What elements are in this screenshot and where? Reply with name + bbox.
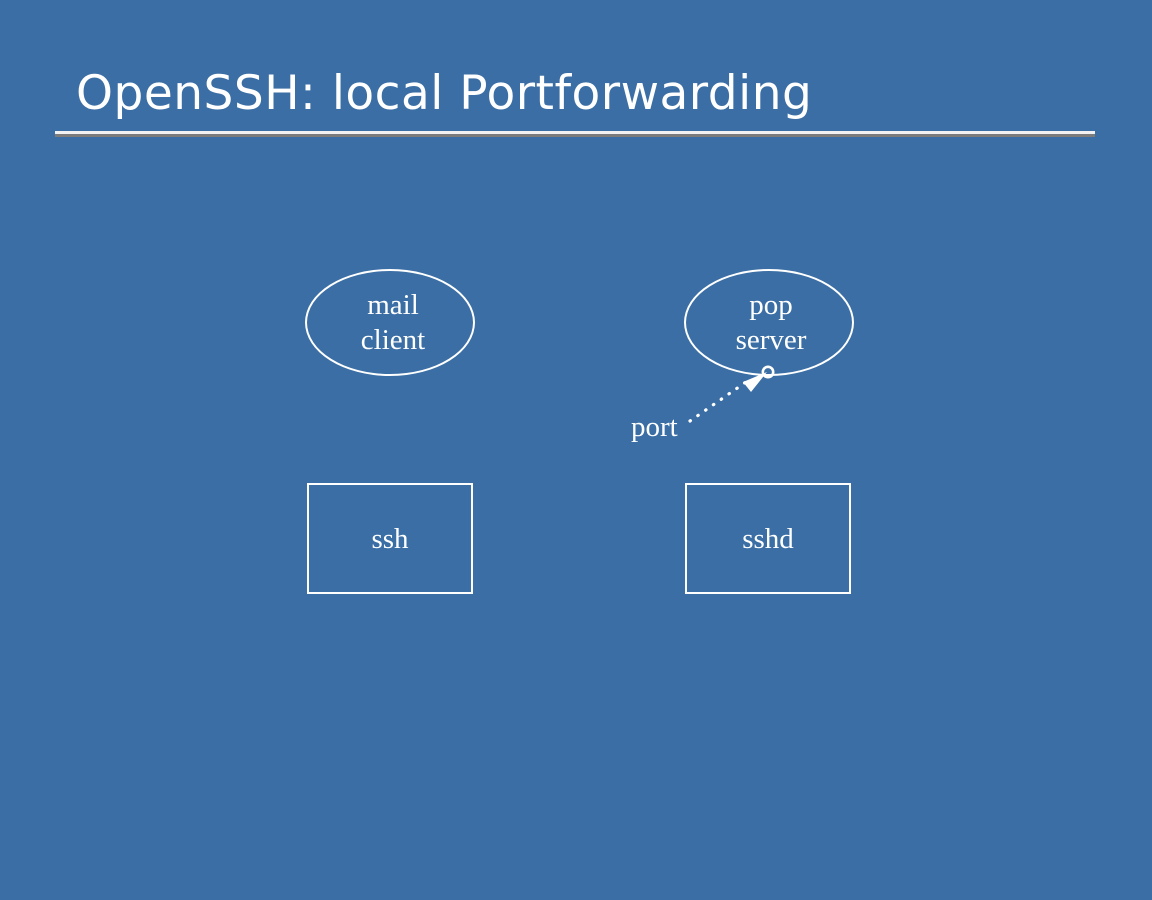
node-sshd-label: sshd [742,522,794,556]
node-mail-client: mail client [305,269,475,376]
node-pop-server-label-line1: pop [736,288,807,323]
portforwarding-diagram: mail client pop server ssh sshd [0,0,1152,900]
node-pop-server-label: pop server [732,288,807,358]
node-ssh: ssh [307,483,473,594]
port-label: port [631,410,678,444]
node-mail-client-label: mail client [355,288,425,358]
node-ssh-label: ssh [371,522,408,556]
node-pop-server-label-line2: server [736,323,807,358]
port-leader-dotted-line [690,382,746,421]
node-mail-client-label-line2: client [361,323,425,358]
slide-canvas: OpenSSH: local Portforwarding mail clien… [0,0,1152,900]
port-marker-circle [763,367,773,377]
node-mail-client-label-line1: mail [361,288,425,323]
node-sshd: sshd [685,483,851,594]
